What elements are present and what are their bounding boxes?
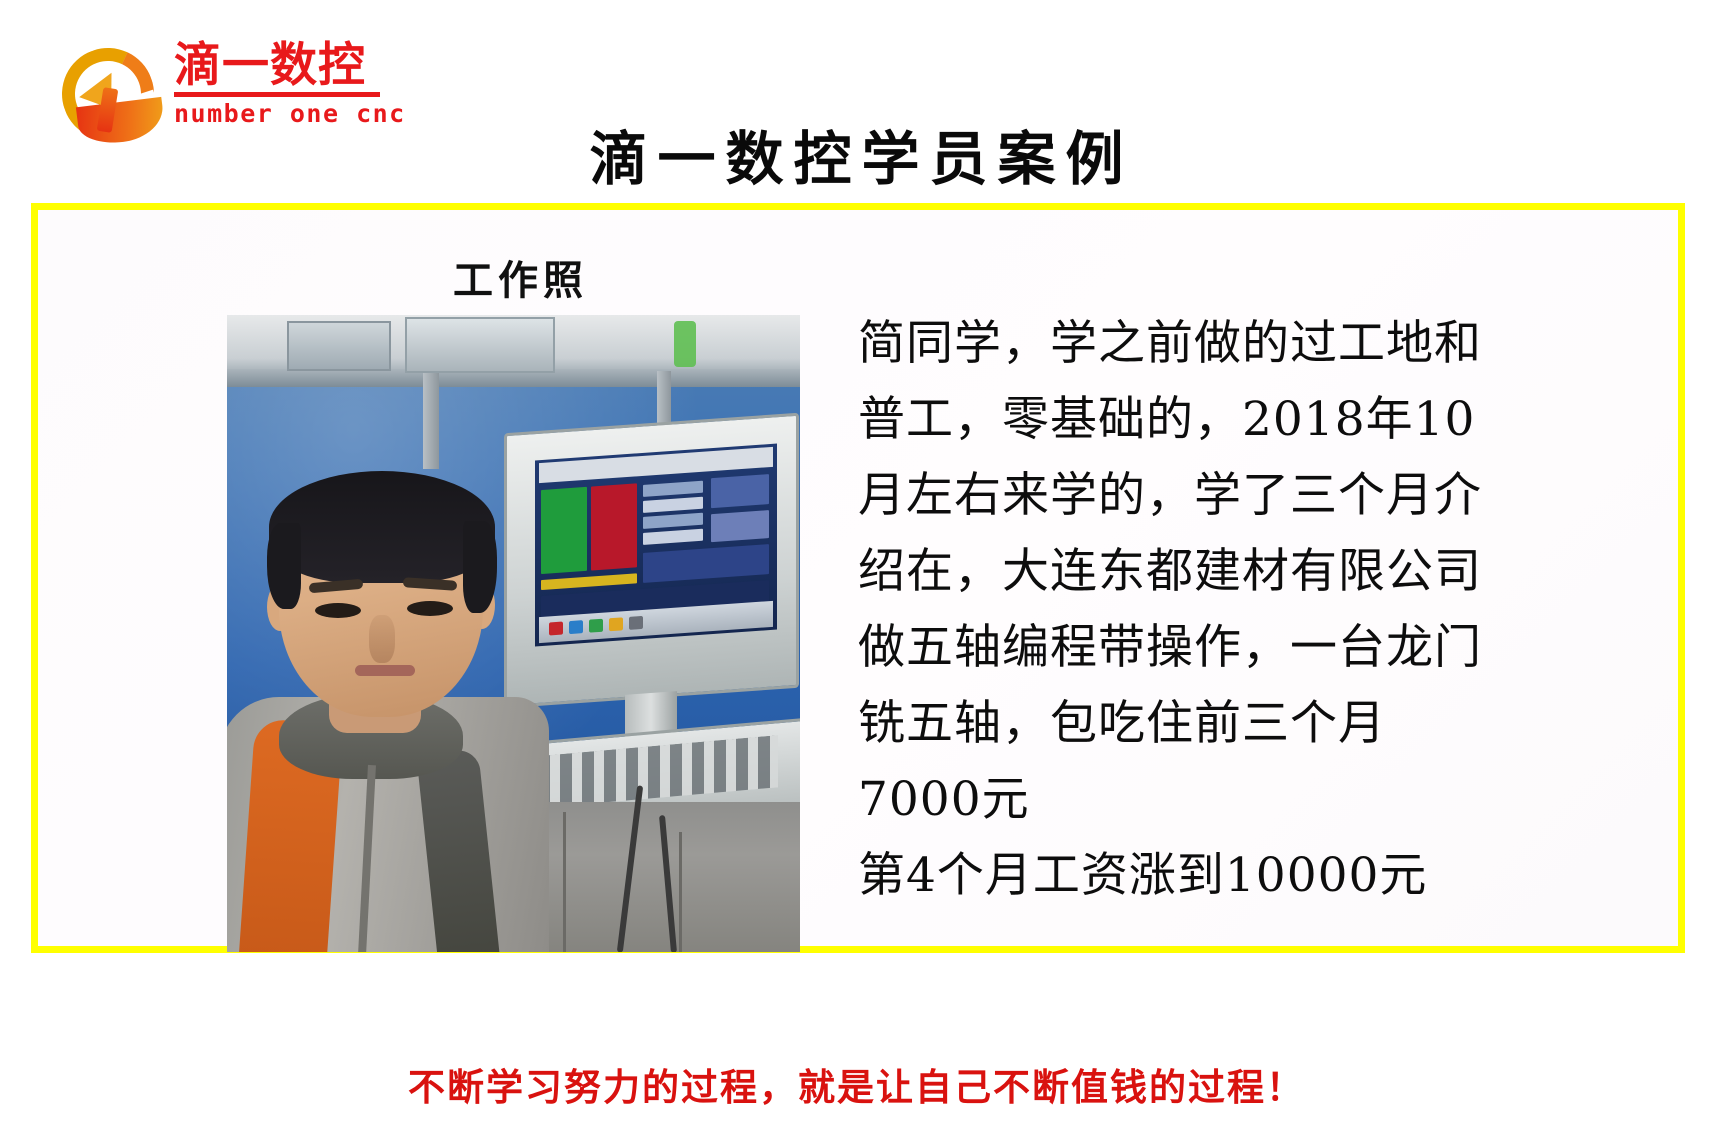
cnc-monitor-screen [535,444,777,647]
testimonial-line: 普工，零基础的，2018年10 [858,382,1658,458]
footer-slogan: 不断学习努力的过程，就是让自己不断值钱的过程！ [0,1057,1713,1111]
testimonial-line: 7000元 [858,762,1658,838]
testimonial-line: 第4个月工资涨到10000元 [858,838,1658,914]
testimonial-line: 绍在，大连东都建材有限公司 [858,534,1658,610]
testimonial-text: 简同学，学之前做的过工地和 普工，零基础的，2018年10 月左右来学的，学了三… [858,306,1658,914]
testimonial-line: 简同学，学之前做的过工地和 [858,306,1658,382]
photo-green-marker [674,321,696,367]
testimonial-line: 月左右来学的，学了三个月介 [858,458,1658,534]
photo-post-left [423,373,439,469]
testimonial-line: 铣五轴，包吃住前三个月 [858,686,1658,762]
photo-vent-right [405,317,555,373]
brand-name-cn: 滴一数控 [174,42,384,89]
photo-person [227,465,547,952]
photo-floor-crack-1 [563,812,566,952]
testimonial-line: 做五轴编程带操作，一台龙门 [858,610,1658,686]
content-frame: 工作照 [31,203,1685,953]
page-title: 滴一数控学员案例 [0,112,1713,196]
photo-caption: 工作照 [453,248,588,306]
page-header: 滴一数控 number one cnc 滴一数控学员案例 [0,0,1713,200]
photo-vent-left [287,321,391,371]
work-photo [227,315,800,952]
photo-floor-crack-2 [679,832,682,952]
